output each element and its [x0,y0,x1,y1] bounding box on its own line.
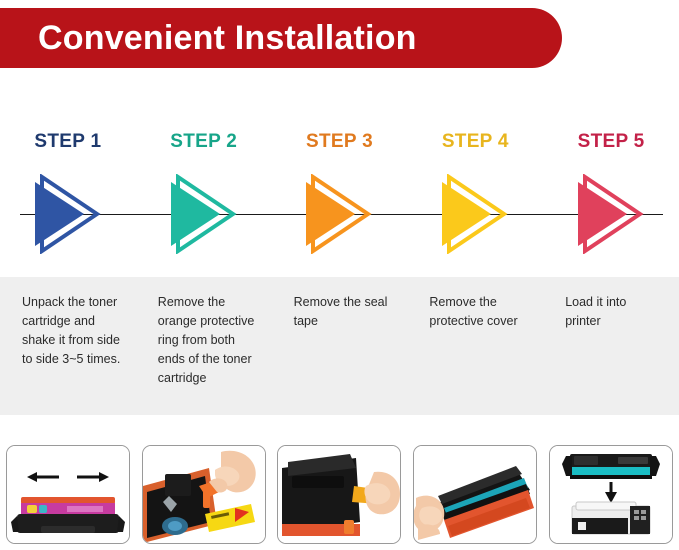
play-arrow-icon-2 [165,174,243,254]
remove-protective-cover-photo [413,445,537,544]
step-label-cell-1: STEP 1 [0,118,136,166]
play-arrow-icon-1 [29,174,107,254]
photo-cell-5 [543,443,679,546]
step-label-3: STEP 3 [306,131,373,153]
play-arrow-icon-3 [300,174,378,254]
arrow-cell-5 [543,168,679,260]
step-photos-row [0,443,679,546]
play-arrow-icon-5 [572,174,650,254]
photo-cell-4 [407,443,543,546]
toner-cartridge-shake-photo [6,445,130,544]
step-label-cell-5: STEP 5 [543,118,679,166]
step-label-1: STEP 1 [34,131,101,153]
step-label-cell-3: STEP 3 [272,118,408,166]
arrow-cell-3 [272,168,408,260]
step-description-5: Load it into printer [565,293,665,331]
header-banner: Convenient Installation [0,8,562,68]
load-into-printer-photo [549,445,673,544]
step-label-5: STEP 5 [578,131,645,153]
step-description-cell-2: Remove the orange protective ring from b… [136,277,272,415]
play-arrow-icon-4 [436,174,514,254]
timeline-arrows-row [0,168,679,260]
step-description-4: Remove the protective cover [429,293,529,331]
step-description-1: Unpack the toner cartridge and shake it … [22,293,122,369]
arrow-cell-4 [407,168,543,260]
page-title: Convenient Installation [0,19,417,58]
arrow-cell-2 [136,168,272,260]
step-description-cell-4: Remove the protective cover [407,277,543,415]
step-label-2: STEP 2 [170,131,237,153]
step-description-cell-5: Load it into printer [543,277,679,415]
photo-cell-3 [272,443,408,546]
remove-seal-tape-photo [277,445,401,544]
step-label-cell-4: STEP 4 [407,118,543,166]
arrow-cell-1 [0,168,136,260]
step-description-cell-1: Unpack the toner cartridge and shake it … [0,277,136,415]
step-description-3: Remove the seal tape [294,293,394,331]
photo-cell-1 [0,443,136,546]
photo-cell-2 [136,443,272,546]
step-descriptions-panel: Unpack the toner cartridge and shake it … [0,277,679,415]
step-description-2: Remove the orange protective ring from b… [158,293,258,388]
step-label-4: STEP 4 [442,131,509,153]
arrow-track [0,168,679,260]
step-labels-row: STEP 1 STEP 2 STEP 3 STEP 4 STEP 5 [0,118,679,166]
step-label-cell-2: STEP 2 [136,118,272,166]
step-description-cell-3: Remove the seal tape [272,277,408,415]
remove-orange-ring-photo [142,445,266,544]
